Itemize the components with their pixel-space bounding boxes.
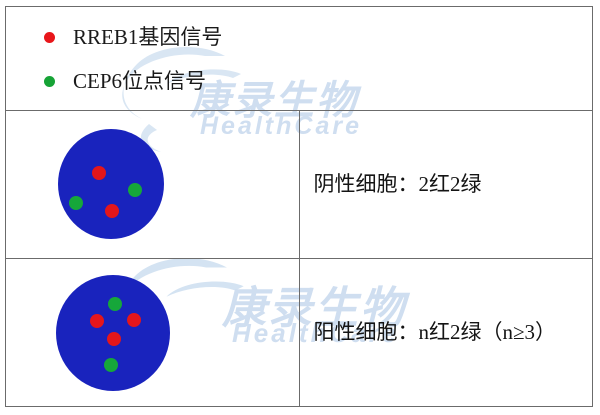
nucleus-diagram-negative [6,111,201,258]
green-dot-marker-icon [44,76,55,87]
fish-interpretation-table: RREB1基因信号 CEP6位点信号 [5,6,593,407]
table-row-positive-cell: 阳性细胞：n红2绿（n≥3） [6,259,593,407]
green-signal-dot [104,358,118,372]
red-signal-dot [90,314,104,328]
green-signal-dot [108,297,122,311]
red-signal-dot [92,166,106,180]
legend-cell: RREB1基因信号 CEP6位点信号 [6,7,593,111]
red-signal-dot [127,313,141,327]
legend-label-cep6: CEP6位点信号 [73,71,206,92]
legend-item-rreb1: RREB1基因信号 [44,16,592,60]
positive-cell-description: 阳性细胞：n红2绿（n≥3） [300,320,593,345]
green-signal-dot [128,183,142,197]
positive-cell-image-cell [6,259,300,407]
negative-cell-image-cell [6,111,300,259]
legend-row: RREB1基因信号 CEP6位点信号 [6,7,593,111]
table-row-negative-cell: 阴性细胞：2红2绿 [6,111,593,259]
nucleus-diagram-positive [6,259,201,406]
red-signal-dot [107,332,121,346]
negative-cell-description: 阴性细胞：2红2绿 [300,172,593,197]
red-dot-marker-icon [44,32,55,43]
legend-item-cep6: CEP6位点信号 [44,60,592,104]
red-signal-dot [105,204,119,218]
negative-cell-text-cell: 阴性细胞：2红2绿 [299,111,593,259]
legend-list: RREB1基因信号 CEP6位点信号 [6,8,592,110]
nucleus-circle [58,129,164,239]
positive-cell-text-cell: 阳性细胞：n红2绿（n≥3） [299,259,593,407]
green-signal-dot [69,196,83,210]
legend-label-rreb1: RREB1基因信号 [73,27,222,48]
